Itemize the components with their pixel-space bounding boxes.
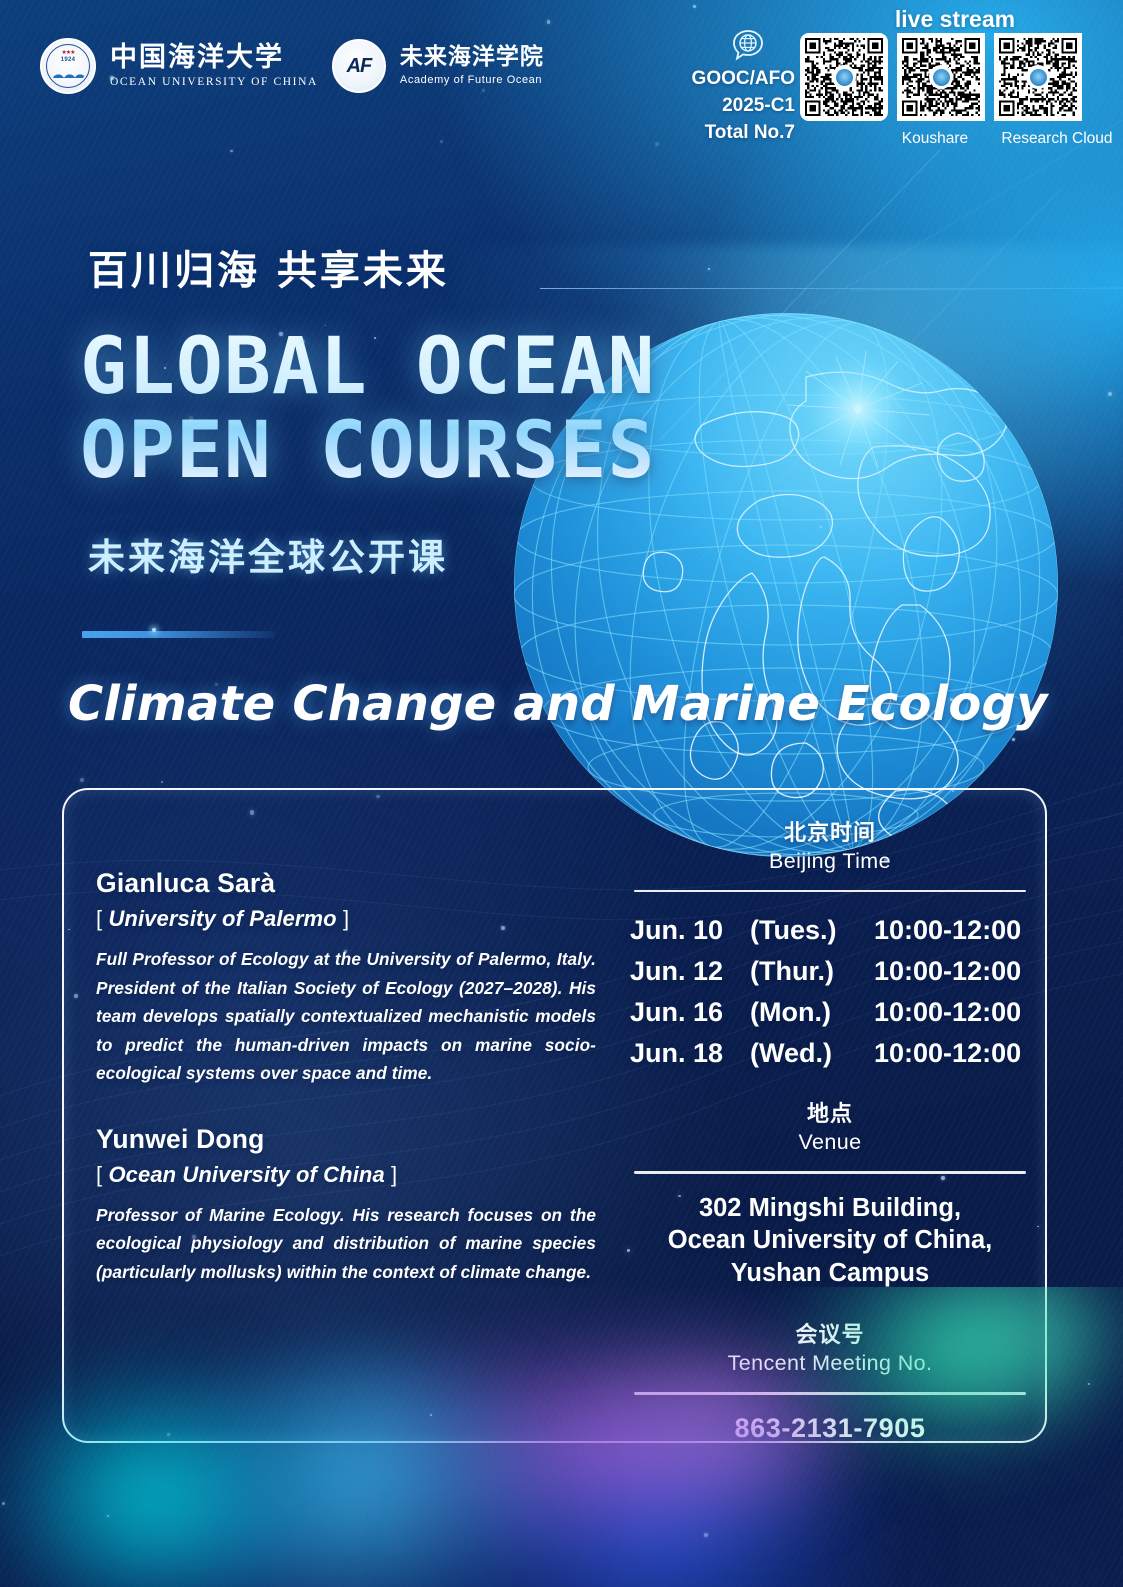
venue-line-2: Ocean University of China, [630, 1224, 1030, 1257]
seal-year: 1924 [42, 57, 94, 63]
schedule-row: Jun. 12 (Thur.) 10:00-12:00 [630, 951, 1030, 992]
afo-name-block: 未来海洋学院 Academy of Future Ocean [400, 46, 544, 86]
speaker-affiliation: [ Ocean University of China ] [96, 1162, 596, 1188]
ouc-name-block: 中国海洋大学 OCEAN UNIVERSITY OF CHINA [110, 44, 318, 89]
affiliation-bracket-close: ] [385, 1162, 397, 1187]
ouc-name-cn: 中国海洋大学 [110, 44, 318, 71]
event-info-panel: 北京时间 Beijing Time Jun. 10 (Tues.) 10:00-… [630, 815, 1030, 1444]
background-spark [1012, 738, 1015, 741]
qr-code-afo[interactable] [800, 33, 888, 121]
venue-address: 302 Mingshi Building, Ocean University o… [630, 1192, 1030, 1290]
qr-center-logo-afo [832, 65, 856, 89]
qr-code-koushare[interactable] [897, 33, 985, 121]
venue-line-3: Yushan Campus [630, 1257, 1030, 1290]
afo-badge-icon: AF [332, 39, 386, 93]
course-code-block: GOOC/AFO 2025-C1 Total No.7 [655, 28, 795, 147]
page-title: GLOBAL OCEAN OPEN COURSES [80, 325, 800, 493]
live-stream-label: live stream [860, 6, 1050, 33]
schedule-day: (Mon.) [750, 992, 874, 1033]
qr-label-group: Koushare Research Cloud [888, 130, 1118, 148]
qr-center-logo-koushare [929, 65, 953, 89]
course-code-line-1: GOOC/AFO [655, 66, 795, 93]
meeting-divider [634, 1392, 1026, 1394]
background-spark [1088, 1383, 1091, 1386]
speaker-block: Yunwei Dong [ Ocean University of China … [96, 1124, 596, 1287]
schedule-time: 10:00-12:00 [874, 1033, 1030, 1074]
meeting-number: 863-2131-7905 [630, 1413, 1030, 1444]
schedule-row: Jun. 10 (Tues.) 10:00-12:00 [630, 910, 1030, 951]
speaker-bio: Full Professor of Ecology at the Univers… [96, 945, 596, 1088]
schedule-time: 10:00-12:00 [874, 951, 1030, 992]
background-spark [107, 1515, 109, 1517]
ouc-name-en: OCEAN UNIVERSITY OF CHINA [110, 77, 318, 89]
background-spark [1108, 392, 1112, 396]
schedule-time: 10:00-12:00 [874, 992, 1030, 1033]
schedule-day: (Tues.) [750, 910, 874, 951]
background-spark [161, 781, 163, 783]
qr-center-logo-research-cloud [1026, 65, 1050, 89]
speaker-affiliation: [ University of Palermo ] [96, 906, 596, 932]
schedule-time: 10:00-12:00 [874, 910, 1030, 951]
affiliation-bracket-open: [ [96, 1162, 108, 1187]
speaker-list: Gianluca Sarà [ University of Palermo ] … [96, 868, 596, 1286]
background-spark [704, 1533, 708, 1537]
accent-bar [82, 631, 275, 638]
schedule-date: Jun. 16 [630, 992, 750, 1033]
chinese-subtitle: 未来海洋全球公开课 [88, 527, 448, 581]
schedule-date: Jun. 12 [630, 951, 750, 992]
poster-header: ★★★ 1924 中国海洋大学 OCEAN UNIVERSITY OF CHIN… [0, 0, 1123, 165]
afo-name-en: Academy of Future Ocean [400, 75, 544, 86]
chinese-slogan: 百川归海 共享未来 [88, 238, 449, 296]
meeting-header-en: Tencent Meeting No. [630, 1351, 1030, 1376]
meeting-header-cn: 会议号 [630, 1317, 1030, 1349]
course-code-line-3: Total No.7 [655, 120, 795, 147]
title-line-2: OPEN COURSES [80, 409, 800, 493]
venue-header-en: Venue [630, 1130, 1030, 1155]
globe-speech-bubble-icon [731, 28, 765, 62]
slogan-rule [540, 288, 1060, 289]
affiliation-bracket-open: [ [96, 906, 108, 931]
poster-root: ★★★ 1924 中国海洋大学 OCEAN UNIVERSITY OF CHIN… [0, 0, 1123, 1587]
schedule-row: Jun. 16 (Mon.) 10:00-12:00 [630, 992, 1030, 1033]
title-line-1: GLOBAL OCEAN [80, 322, 656, 412]
schedule-date: Jun. 10 [630, 910, 750, 951]
ouc-seal-icon: ★★★ 1924 [40, 38, 96, 94]
schedule-table: Jun. 10 (Tues.) 10:00-12:00 Jun. 12 (Thu… [630, 910, 1030, 1074]
qr-label-research-cloud: Research Cloud [996, 130, 1118, 148]
course-code-line-2: 2025-C1 [655, 93, 795, 120]
background-spark [2, 1502, 5, 1505]
venue-line-1: 302 Mingshi Building, [630, 1192, 1030, 1225]
affiliation-text: University of Palermo [108, 906, 336, 931]
background-spark [820, 526, 822, 528]
time-divider [634, 890, 1026, 892]
venue-header-cn: 地点 [630, 1096, 1030, 1128]
schedule-day: (Thur.) [750, 951, 874, 992]
qr-code-research-cloud[interactable] [994, 33, 1082, 121]
speaker-block: Gianluca Sarà [ University of Palermo ] … [96, 868, 596, 1088]
schedule-day: (Wed.) [750, 1033, 874, 1074]
schedule-date: Jun. 18 [630, 1033, 750, 1074]
qr-code-group [800, 33, 1082, 121]
speaker-bio: Professor of Marine Ecology. His researc… [96, 1201, 596, 1287]
speaker-name: Gianluca Sarà [96, 868, 596, 899]
logo-lockup: ★★★ 1924 中国海洋大学 OCEAN UNIVERSITY OF CHIN… [40, 38, 544, 94]
course-subtitle: Climate Change and Marine Ecology [68, 676, 1088, 732]
time-header-cn: 北京时间 [630, 815, 1030, 847]
qr-label-koushare: Koushare [888, 130, 982, 148]
schedule-row: Jun. 18 (Wed.) 10:00-12:00 [630, 1033, 1030, 1074]
time-header-en: Beijing Time [630, 849, 1030, 874]
background-spark [80, 778, 84, 782]
speaker-name: Yunwei Dong [96, 1124, 596, 1155]
affiliation-text: Ocean University of China [108, 1162, 384, 1187]
venue-divider [634, 1171, 1026, 1173]
afo-badge-letters: AF [347, 55, 372, 78]
affiliation-bracket-close: ] [337, 906, 349, 931]
accent-dot [152, 628, 156, 632]
background-spark [708, 268, 710, 270]
afo-name-cn: 未来海洋学院 [400, 46, 544, 69]
